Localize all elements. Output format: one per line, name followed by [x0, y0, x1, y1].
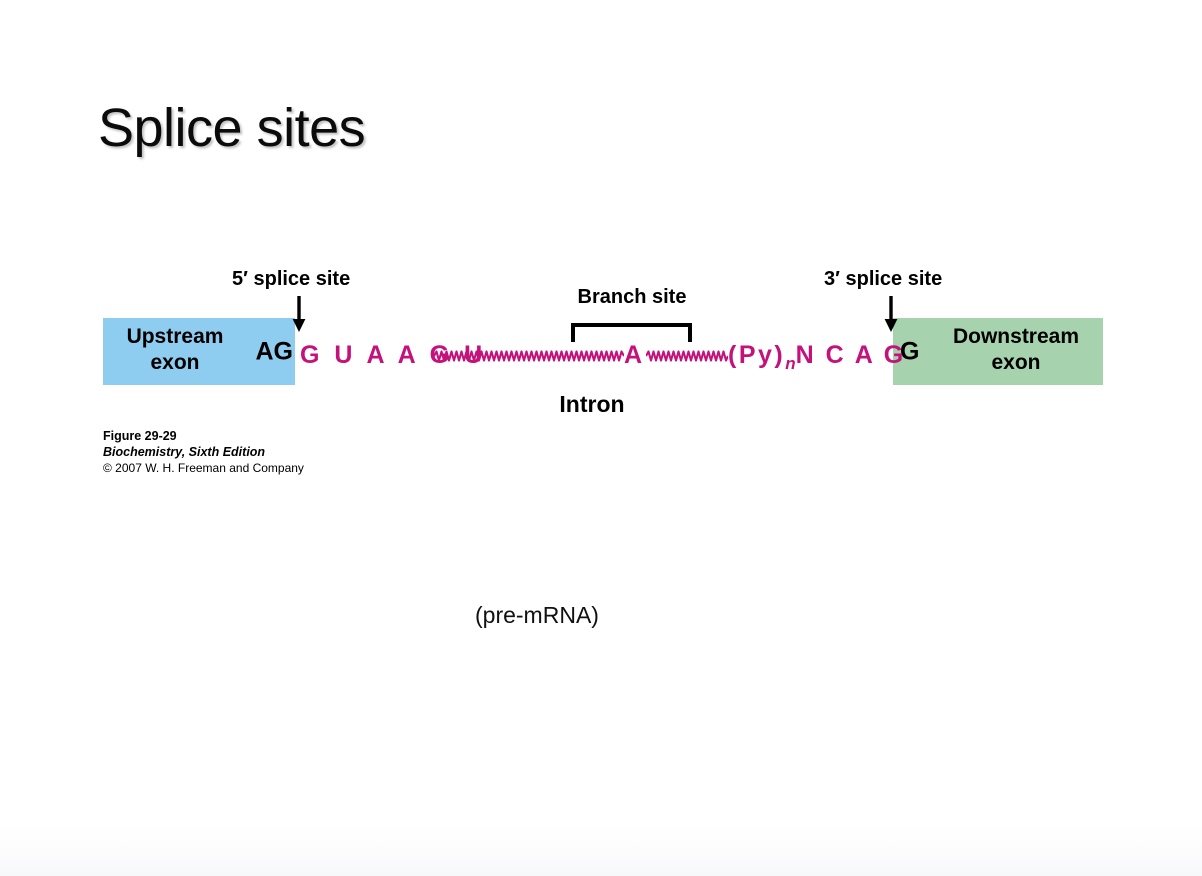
downstream-exon-label-line1: Downstream	[933, 324, 1099, 350]
splice-sites-figure: Upstream exon AG G Downstream exon G U A…	[0, 0, 1202, 876]
intron-span-arrow: Intron	[298, 390, 886, 418]
upstream-exon-box: Upstream exon AG	[103, 318, 295, 385]
arrow-down-icon-three-prime	[882, 296, 900, 332]
caption-source-title: Biochemistry, Sixth Edition	[103, 444, 304, 460]
arrow-down-icon-five-prime	[290, 296, 308, 332]
upstream-exon-flanking-bases: AG	[256, 337, 294, 366]
polypyrimidine-tract-subscript: n	[785, 354, 795, 373]
intron-squiggle-left-icon	[434, 350, 624, 362]
slide-canvas: Splice sites Upstream exon AG G Downstre…	[0, 0, 1202, 876]
three-prime-splice-site-label: 3′ splice site	[824, 268, 942, 291]
intron-squiggle-right-icon	[646, 350, 728, 362]
acceptor-site-sequence: (Py)nN C A G	[728, 336, 906, 383]
branch-site-label: Branch site	[570, 286, 694, 309]
caption-copyright: © 2007 W. H. Freeman and Company	[103, 460, 304, 476]
branch-site-bracket	[571, 323, 692, 342]
upstream-exon-label-line2: exon	[109, 350, 241, 376]
polypyrimidine-tract-label: (Py)	[728, 341, 785, 369]
acceptor-consensus-bases: N C A G	[796, 341, 906, 369]
five-prime-splice-site-label: 5′ splice site	[232, 268, 350, 291]
upstream-exon-label-line1: Upstream	[109, 324, 241, 350]
downstream-exon-box: G Downstream exon	[893, 318, 1103, 385]
caption-figure-number: Figure 29-29	[103, 428, 304, 444]
upstream-exon-label: Upstream exon	[109, 324, 241, 376]
downstream-exon-label-line2: exon	[933, 350, 1099, 376]
downstream-exon-label: Downstream exon	[933, 324, 1099, 376]
pre-mrna-note: (pre-mRNA)	[475, 602, 599, 629]
figure-caption: Figure 29-29 Biochemistry, Sixth Edition…	[103, 428, 304, 476]
